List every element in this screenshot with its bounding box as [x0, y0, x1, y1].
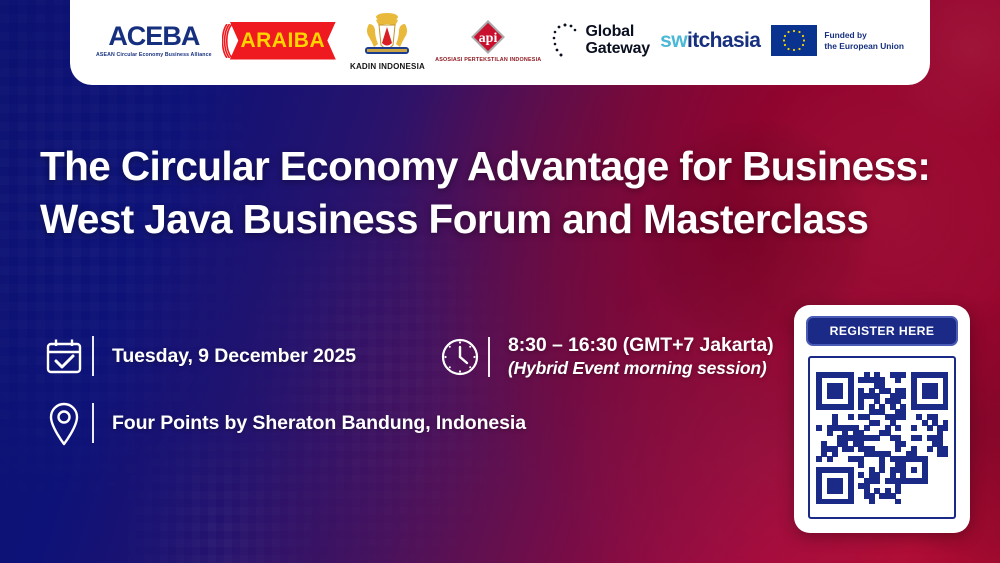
kadin-wordmark: KADIN INDONESIA [350, 62, 425, 71]
kadin-crest-icon [359, 11, 415, 61]
api-tagline: ASOSIASI PERTEKSTILAN INDONESIA [435, 57, 541, 63]
kadin-logo: KADIN INDONESIA [350, 11, 425, 71]
global-gateway-logo: Global Gateway [552, 22, 650, 60]
event-time-subtext: (Hybrid Event morning session) [508, 358, 773, 379]
switchasia-word-light: sw [660, 29, 687, 52]
divider [488, 337, 490, 377]
switchasia-logo: switchasia Funded [660, 25, 904, 56]
event-time-text: 8:30 – 16:30 (GMT+7 Jakarta) [508, 334, 773, 357]
registration-card: REGISTER HERE [794, 305, 970, 533]
aceba-logo: ACEBA ASEAN Circular Economy Business Al… [96, 23, 212, 58]
event-location-text: Four Points by Sheraton Bandung, Indones… [112, 412, 526, 435]
araiba-logo: ARAIBA [222, 18, 340, 64]
aceba-wordmark: ACEBA [108, 23, 199, 50]
registration-qr-code[interactable] [816, 372, 948, 504]
clock-icon [434, 336, 486, 378]
event-banner: ACEBA ASEAN Circular Economy Business Al… [0, 0, 1000, 563]
register-here-button[interactable]: REGISTER HERE [806, 316, 958, 346]
eu-stars-icon [552, 22, 580, 60]
event-details: Tuesday, 9 December 2025 [38, 336, 526, 446]
global-gateway-line2: Gateway [586, 41, 650, 57]
map-pin-icon [38, 400, 90, 446]
detail-time-group: 8:30 – 16:30 (GMT+7 Jakarta) (Hybrid Eve… [434, 334, 773, 379]
eu-funding-mark: Funded by the European Union [771, 25, 904, 56]
divider [92, 336, 94, 376]
event-date-text: Tuesday, 9 December 2025 [112, 345, 356, 368]
aceba-tagline: ASEAN Circular Economy Business Alliance [96, 52, 212, 58]
event-title-line1: The Circular Economy Advantage for Busin… [40, 140, 975, 193]
araiba-wordmark: ARAIBA [222, 18, 340, 64]
partner-logo-bar: ACEBA ASEAN Circular Economy Business Al… [70, 0, 930, 85]
eu-funding-line1: Funded by [824, 30, 904, 41]
api-diamond-icon: api [470, 19, 506, 55]
api-logo: api ASOSIASI PERTEKSTILAN INDONESIA [435, 19, 541, 63]
eu-funding-line2: the European Union [824, 41, 904, 52]
eu-flag-icon [771, 25, 817, 56]
detail-row-location: Four Points by Sheraton Bandung, Indones… [38, 400, 526, 446]
calendar-check-icon [38, 336, 90, 376]
switchasia-word-dark: tchasia [692, 29, 760, 52]
qr-code-frame [808, 356, 956, 519]
event-title-line2: West Java Business Forum and Masterclass [40, 193, 975, 246]
divider [92, 403, 94, 443]
event-title: The Circular Economy Advantage for Busin… [40, 140, 975, 247]
svg-text:api: api [479, 31, 498, 46]
global-gateway-line1: Global [586, 24, 650, 40]
detail-row-date-time: Tuesday, 9 December 2025 [38, 336, 526, 376]
switchasia-wordmark: switchasia [660, 30, 760, 51]
